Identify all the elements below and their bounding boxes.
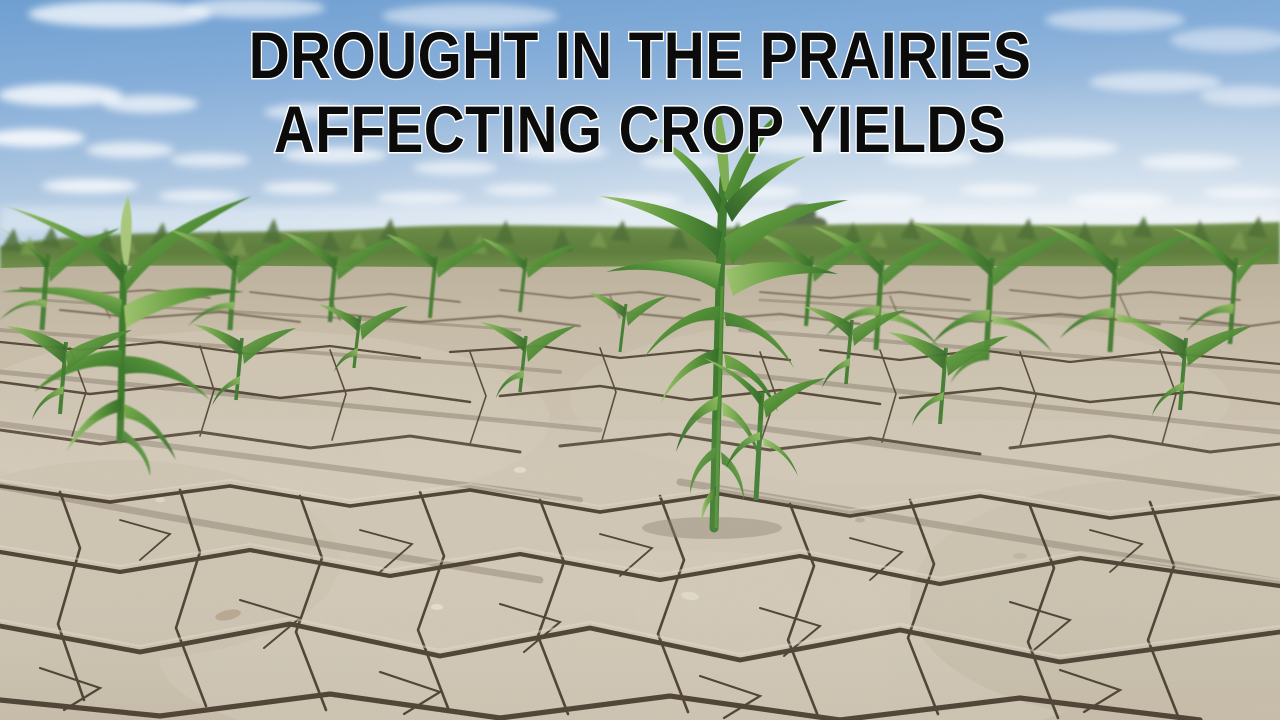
drought-field-photo — [0, 0, 1280, 720]
news-graphic-stage: DROUGHT IN THE PRAIRIES AFFECTING CROP Y… — [0, 0, 1280, 720]
